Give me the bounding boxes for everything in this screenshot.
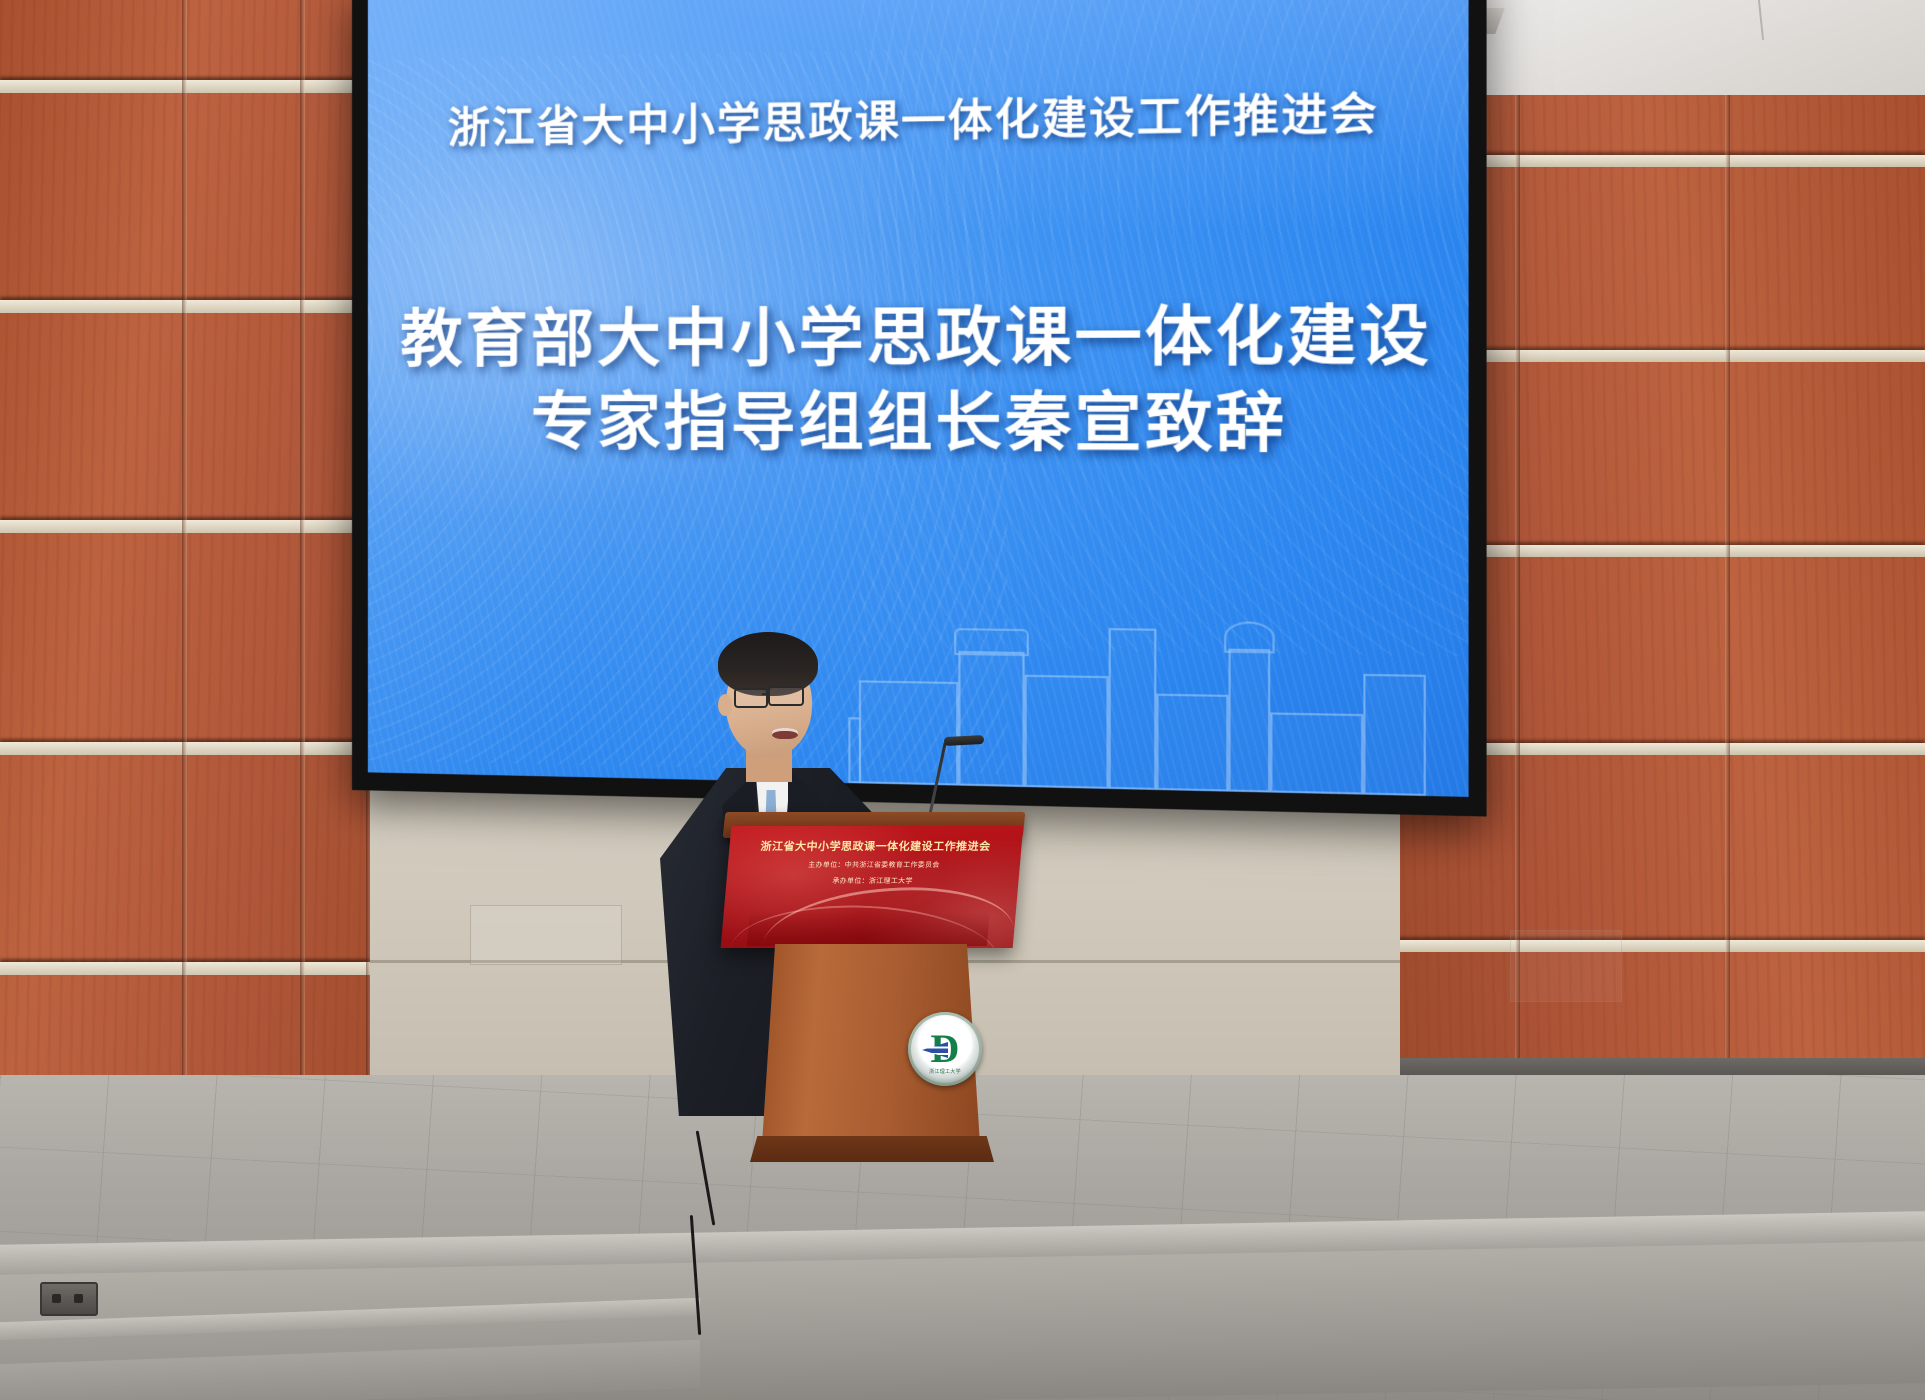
- podium-banner-organizer-2: 承办单位：浙江理工大学: [726, 876, 1019, 886]
- podium-banner: 浙江省大中小学思政课一体化建设工作推进会 主办单位：中共浙江省委教育工作委员会 …: [721, 826, 1024, 948]
- back-wall-panel: [470, 905, 622, 965]
- screen-glare: [368, 0, 1469, 797]
- podium-banner-organizer-1: 主办单位：中共浙江省委教育工作委员会: [727, 860, 1020, 870]
- glasses-bridge: [762, 693, 770, 695]
- speaker-mouth: [772, 728, 798, 739]
- left-wood-wall: [0, 0, 372, 1165]
- university-emblem: D 浙江理工大学: [908, 1012, 982, 1086]
- podium-banner-photo-strip: [747, 912, 990, 946]
- speaker-ear: [718, 694, 732, 716]
- wall-outlet-icon[interactable]: [40, 1282, 98, 1316]
- screenshot-scene: 浙江省大中小学思政课一体化建设工作推进会 教育部大中小学思政课一体化建设 专家指…: [0, 0, 1925, 1400]
- glasses-icon: [734, 688, 768, 708]
- led-screen[interactable]: 浙江省大中小学思政课一体化建设工作推进会 教育部大中小学思政课一体化建设 专家指…: [352, 0, 1487, 817]
- back-wall-panel-right: [1510, 930, 1622, 1002]
- podium-base: [750, 1136, 994, 1162]
- emblem-caption: 浙江理工大学: [908, 1068, 982, 1075]
- glasses-lens-right: [768, 686, 804, 706]
- podium-banner-title: 浙江省大中小学思政课一体化建设工作推进会: [729, 838, 1022, 854]
